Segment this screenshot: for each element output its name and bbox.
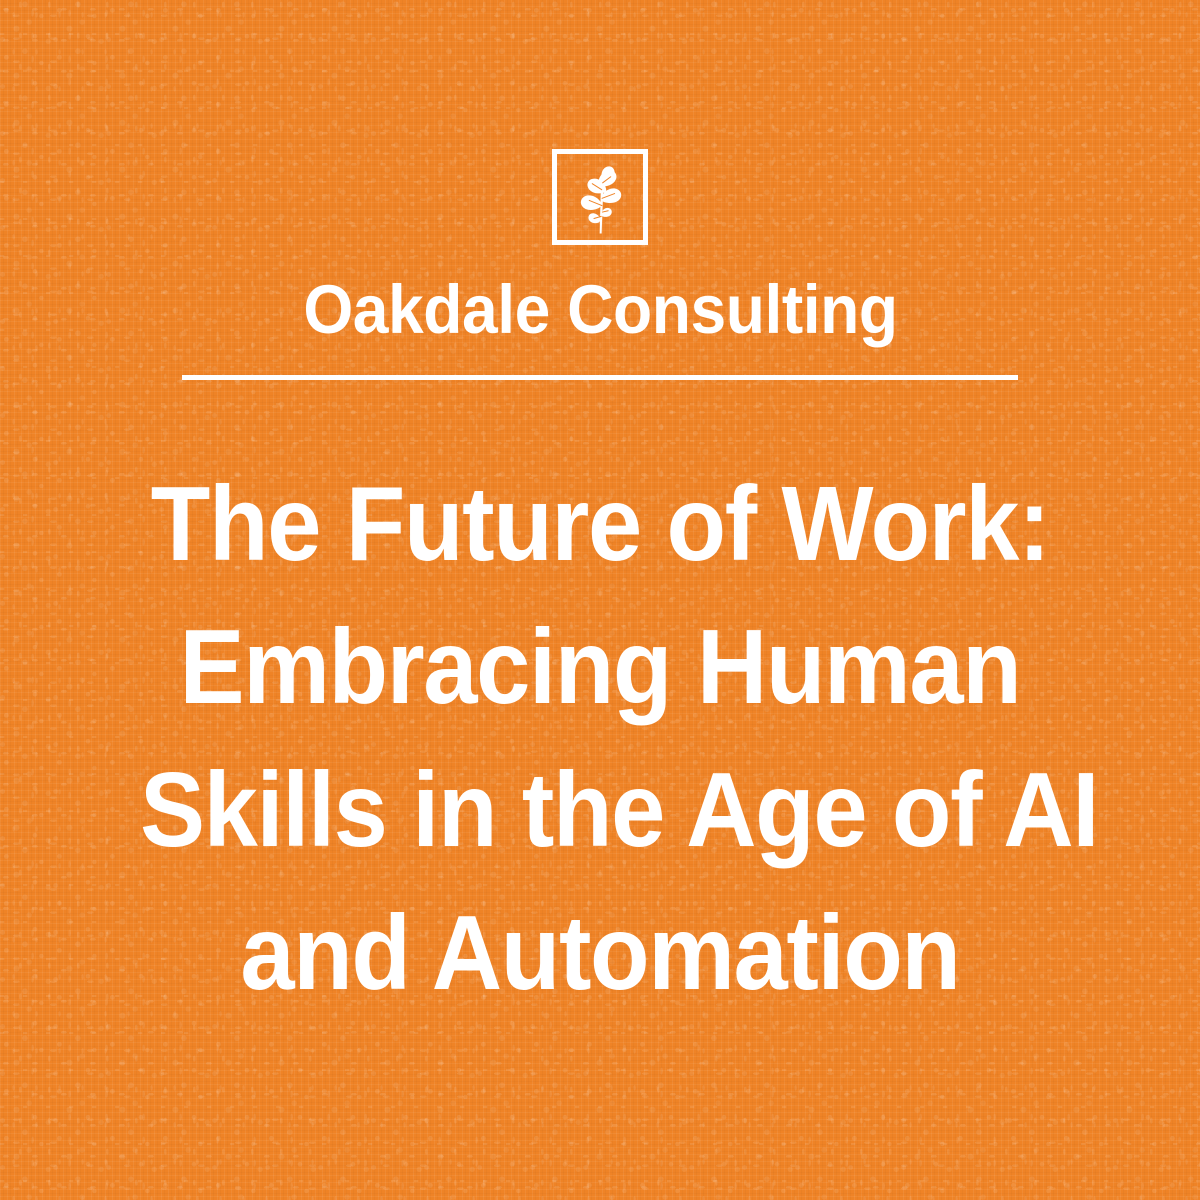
headline-line-3: Skills in the Age of AI xyxy=(140,739,1060,882)
headline: The Future of Work: Embracing Human Skil… xyxy=(140,453,1060,1025)
headline-line-1: The Future of Work: xyxy=(140,453,1060,596)
divider-rule xyxy=(182,375,1018,380)
content-stack: Oakdale Consulting The Future of Work: E… xyxy=(0,0,1200,1200)
brand-name: Oakdale Consulting xyxy=(303,275,897,344)
logo-square-frame[interactable] xyxy=(552,149,648,245)
oak-leaf-icon xyxy=(557,154,643,240)
title-card-canvas: Oakdale Consulting The Future of Work: E… xyxy=(0,0,1200,1200)
headline-line-2: Embracing Human xyxy=(140,596,1060,739)
headline-line-4: and Automation xyxy=(140,882,1060,1025)
